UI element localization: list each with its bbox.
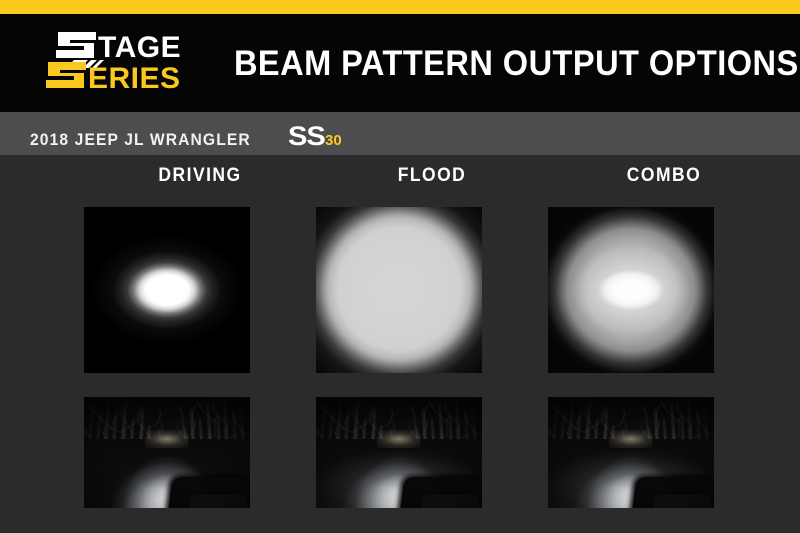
product-code-label: SS <box>288 121 325 152</box>
svg-text:ERIES: ERIES <box>88 62 181 94</box>
svg-text:TAGE: TAGE <box>98 31 181 64</box>
flood-beam-pattern <box>316 207 482 373</box>
flood-road-photo <box>316 397 482 508</box>
photo-vignette <box>548 397 714 508</box>
combo-beam-pattern <box>548 207 714 373</box>
accent-strip <box>0 0 800 14</box>
flood-night-road-scene <box>316 397 482 508</box>
product-badge: SS 30 <box>288 121 342 152</box>
driving-beam-gradient <box>84 207 250 373</box>
photo-vignette <box>84 397 250 508</box>
beam-pattern-infographic: TAGE ERIES BEAM PATTERN OUTPUT OPTIONS 2… <box>0 0 800 533</box>
column-header-driving: DRIVING <box>93 165 306 187</box>
subtitle-bar: 2018 JEEP JL WRANGLER SS 30 <box>0 112 800 156</box>
photo-vignette <box>316 397 482 508</box>
flood-beam-gradient <box>316 207 482 373</box>
vehicle-label: 2018 JEEP JL WRANGLER <box>30 130 251 150</box>
column-header-combo: COMBO <box>557 165 770 187</box>
subtitle-content: 2018 JEEP JL WRANGLER SS 30 <box>30 121 342 152</box>
product-size-label: 30 <box>325 132 342 149</box>
comparison-grid: DRIVING FLOOD <box>0 155 800 533</box>
page-title: BEAM PATTERN OUTPUT OPTIONS <box>234 44 764 84</box>
combo-road-photo <box>548 397 714 508</box>
driving-road-photo <box>84 397 250 508</box>
driving-night-road-scene <box>84 397 250 508</box>
combo-beam-gradient <box>548 207 714 373</box>
combo-night-road-scene <box>548 397 714 508</box>
driving-beam-pattern <box>84 207 250 373</box>
stage-series-logo: TAGE ERIES <box>44 22 194 94</box>
column-header-flood: FLOOD <box>325 165 538 187</box>
